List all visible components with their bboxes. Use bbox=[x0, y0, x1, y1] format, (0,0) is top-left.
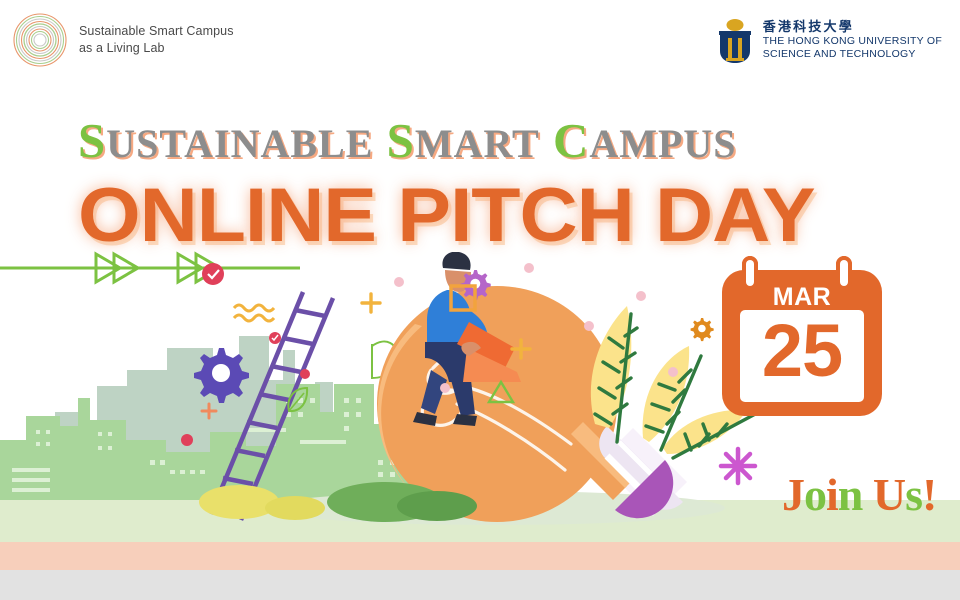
gear-icon bbox=[691, 318, 714, 341]
asterisk-sparkle-icon bbox=[718, 446, 758, 486]
subtitle-word-body: AMPUS bbox=[589, 121, 736, 166]
ssc-logo: Sustainable Smart Campus as a Living Lab bbox=[12, 12, 234, 68]
gear-icon bbox=[194, 348, 249, 403]
poster-headline: ONLINE PITCH DAY bbox=[78, 172, 815, 259]
calendar-day: 25 bbox=[714, 314, 890, 388]
hkust-chinese-name: 香港科技大學 bbox=[763, 19, 942, 35]
join-us-letter: J bbox=[782, 469, 804, 520]
join-us-letter: n bbox=[838, 469, 863, 520]
leaf-icon bbox=[286, 386, 310, 414]
band-grey bbox=[0, 570, 960, 600]
poster-subtitle: SUSTAINABLE SMART CAMPUS bbox=[78, 112, 737, 169]
calendar-month: MAR bbox=[714, 283, 890, 312]
join-us-letter: s bbox=[905, 469, 922, 520]
wave-icon bbox=[232, 300, 276, 330]
subtitle-word-body: USTAINABLE bbox=[106, 121, 373, 166]
hkust-logo-text: 香港科技大學 THE HONG KONG UNIVERSITY OF SCIEN… bbox=[763, 18, 942, 61]
check-badge-icon bbox=[181, 263, 310, 446]
ssc-logo-text: Sustainable Smart Campus as a Living Lab bbox=[79, 23, 234, 58]
hkust-shield-icon bbox=[716, 18, 754, 64]
ssc-logo-line2: as a Living Lab bbox=[79, 40, 234, 57]
pitch-day-poster: Sustainable Smart Campus as a Living Lab… bbox=[0, 0, 960, 600]
join-us-letter: ! bbox=[922, 469, 936, 520]
subtitle-lead-letter: S bbox=[78, 113, 106, 168]
join-us-letter: U bbox=[873, 469, 905, 520]
plus-icon bbox=[202, 404, 216, 418]
subtitle-lead-letter: C bbox=[553, 113, 589, 168]
subtitle-word-body: MART bbox=[415, 121, 540, 166]
band-peach bbox=[0, 542, 960, 570]
subtitle-lead-letter: S bbox=[387, 113, 415, 168]
ssc-logo-line1: Sustainable Smart Campus bbox=[79, 23, 234, 40]
join-us-cta[interactable]: Join Us! bbox=[782, 468, 936, 521]
join-us-letter bbox=[862, 469, 873, 520]
join-us-letter: i bbox=[826, 469, 838, 520]
hkust-english-line1: THE HONG KONG UNIVERSITY OF bbox=[763, 35, 942, 48]
hkust-english-line2: SCIENCE AND TECHNOLOGY bbox=[763, 48, 942, 61]
concentric-rings-logo-icon bbox=[12, 12, 68, 68]
hkust-logo: 香港科技大學 THE HONG KONG UNIVERSITY OF SCIEN… bbox=[716, 18, 942, 64]
join-us-letter: o bbox=[804, 469, 826, 520]
